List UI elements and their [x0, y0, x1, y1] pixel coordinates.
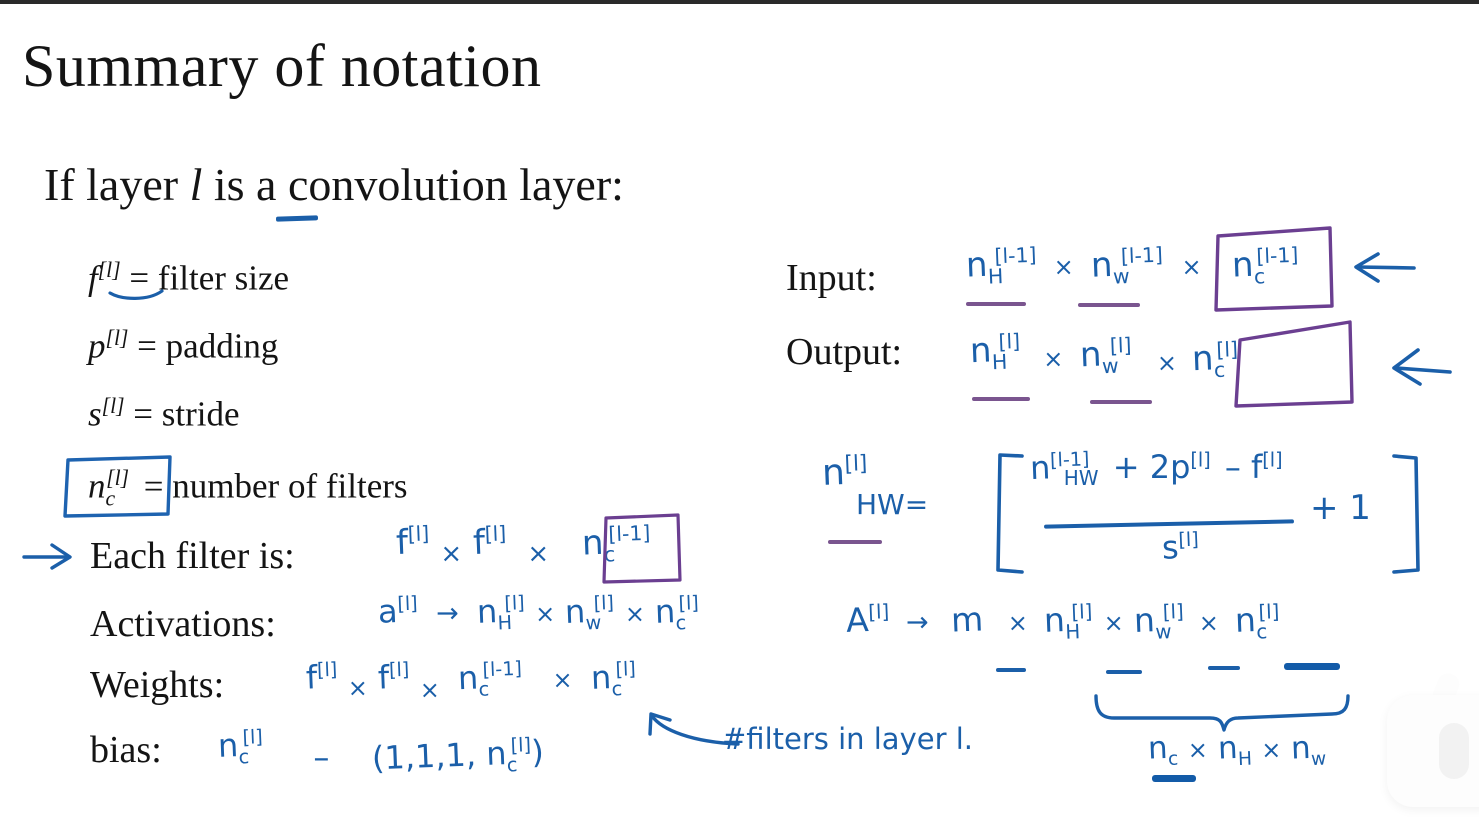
batch-times-3: ×	[1199, 609, 1219, 637]
subtitle-before: If layer	[44, 159, 190, 210]
formula-lhs-sub: HW	[856, 488, 905, 521]
brace-nh: nH	[1217, 729, 1252, 770]
in-nc: nc[l-1]	[1232, 243, 1300, 290]
formula-plus-one: + 1	[1310, 488, 1371, 528]
brace-nh-sub: H	[1237, 749, 1252, 771]
formula-num-n: n[l-1]	[1029, 447, 1090, 487]
app-logo-watermark	[1387, 695, 1479, 807]
brace-times-2: ×	[1261, 736, 1281, 764]
definition-meaning: stride	[162, 395, 240, 434]
input-nh-underline	[966, 302, 1026, 306]
batch-nc-underline	[1284, 663, 1340, 670]
subtitle-var-underline	[276, 215, 318, 221]
definition-equals: =	[129, 259, 149, 298]
definition-equals: =	[144, 467, 164, 506]
definition-filter-size: f[l] = filter size	[88, 258, 289, 299]
batch-arrow: →	[906, 607, 929, 638]
hw-bnc: nc[l]	[217, 725, 264, 769]
hw-bias-tuple-sup: [l]	[510, 734, 531, 758]
in-nw-sup: [l-1]	[1120, 243, 1163, 269]
out-times-2: ×	[1157, 349, 1177, 377]
hw-times-5: ×	[348, 674, 368, 702]
hw-wnc: nc[l]	[590, 657, 637, 701]
hw-arrow-1: →	[436, 598, 459, 629]
slide-canvas: Summary of notation If layer l is a conv…	[0, 0, 1479, 829]
each-filter-handwriting: f[l] × f[l] × nc[l-1]	[396, 522, 651, 566]
hw-f1-sup: [l]	[407, 521, 429, 546]
batch-nc: nc[l]	[1235, 599, 1281, 644]
batch-nh-underline	[1106, 670, 1142, 674]
filters-note: #filters in layer l.	[722, 722, 973, 756]
hw-wf1: f[l]	[305, 657, 338, 696]
hw-nc-prev: nc[l-1]	[581, 521, 651, 568]
batch-brace-note: nc × nH × nw	[1148, 730, 1326, 770]
in-nw: nw[l-1]	[1090, 243, 1164, 290]
hw-f1: f[l]	[395, 521, 430, 563]
formula-floor-bracket-right	[1388, 452, 1428, 578]
definition-equals: =	[137, 327, 157, 366]
hw-wf1-sup: [l]	[317, 658, 338, 682]
out-nc: nc[l]	[1191, 337, 1239, 383]
batch-A: A[l]	[845, 599, 890, 640]
input-arrow-left-icon	[1348, 250, 1418, 290]
definition-padding: p[l] = padding	[88, 326, 278, 367]
hw-nw: nw[l]	[565, 591, 616, 635]
output-arrow-left-icon	[1384, 346, 1454, 392]
output-handwriting: nH[l] × nw[l] × nc[l]	[970, 330, 1238, 374]
batch-A-sup: [l]	[868, 600, 890, 624]
definition-superscript: [l]	[102, 394, 125, 418]
output-nh-underline	[972, 397, 1030, 401]
hw-wnc-prev-sup: [l-1]	[482, 657, 522, 681]
formula-lhs-underline	[828, 540, 882, 544]
hw-bias-tuple: (1,1,1, nc[l])	[371, 733, 544, 782]
hw-f2: f[l]	[472, 521, 507, 563]
batch-m: m	[950, 599, 984, 639]
formula-lhs: n[l]	[822, 452, 868, 493]
definition-superscript: [l]	[106, 326, 129, 350]
row-label-each-filter: Each filter is:	[90, 534, 295, 578]
formula-num-sup: [l-1]	[1050, 447, 1090, 471]
formula-floor-bracket-left	[992, 452, 1028, 578]
batch-times-1: ×	[1008, 609, 1028, 637]
hw-nw-sup: [l]	[594, 591, 615, 615]
out-nh: nH[l]	[969, 329, 1021, 375]
row-label-bias: bias:	[90, 728, 162, 772]
hw-times-7: ×	[553, 666, 573, 694]
bias-handwriting: nc[l] – (1,1,1, nc[l])	[218, 726, 543, 768]
in-times-2: ×	[1182, 253, 1202, 281]
formula-equals: =	[905, 488, 928, 521]
output-nw-underline	[1090, 400, 1152, 404]
hw-times-4: ×	[625, 600, 645, 628]
in-nh: nH[l-1]	[965, 243, 1037, 290]
hw-f2-sup: [l]	[484, 521, 506, 546]
formula-num-rest2: – f	[1225, 448, 1262, 486]
batch-dims-brace	[1092, 692, 1354, 734]
formula-num-rest1: + 2p	[1113, 448, 1191, 486]
hw-wf2: f[l]	[377, 657, 410, 696]
output-nc-box	[1232, 318, 1356, 410]
hw-nh-sup: [l]	[504, 591, 525, 615]
batch-times-2: ×	[1104, 609, 1124, 637]
hw-bnc-sup: [l]	[242, 725, 263, 749]
out-times-1: ×	[1043, 345, 1063, 373]
definition-superscript: [l]	[106, 466, 129, 490]
hw-dash: –	[313, 738, 329, 776]
activations-handwriting: a[l] → nH[l] × nw[l] × nc[l]	[378, 592, 699, 634]
hw-wnc-prev: nc[l-1]	[457, 657, 523, 702]
batch-nw: nw[l]	[1133, 599, 1185, 644]
in-nh-sup: [l-1]	[994, 243, 1037, 269]
out-nw: nw[l]	[1079, 333, 1132, 379]
batch-nc-sup: [l]	[1258, 600, 1280, 624]
definition-subscript: c	[106, 487, 116, 511]
hw-a: a[l]	[377, 591, 418, 631]
hw-nc-act-sup: [l]	[678, 592, 699, 616]
row-label-activations: Activations:	[90, 602, 276, 646]
subtitle-layer-var: l	[190, 159, 203, 210]
in-nc-sup: [l-1]	[1256, 243, 1299, 269]
definition-symbol: s	[88, 395, 102, 434]
out-nw-sup: [l]	[1110, 333, 1132, 358]
formula-num-rest1-sup: [l]	[1190, 448, 1210, 471]
top-edge-strip	[0, 0, 1479, 4]
input-nw-underline	[1078, 303, 1140, 307]
brace-nw-sub: w	[1311, 749, 1327, 771]
definition-equals: =	[133, 395, 153, 434]
hw-nh: nH[l]	[476, 591, 526, 635]
definition-superscript: [l]	[98, 258, 121, 282]
brace-nc-sub: c	[1168, 749, 1179, 770]
formula-num-rest2-sup: [l]	[1262, 448, 1282, 471]
hw-wf2-sup: [l]	[389, 658, 410, 682]
hw-times-1: ×	[440, 539, 462, 569]
formula-den-sup: [l]	[1178, 528, 1199, 552]
definition-symbol: p	[88, 327, 106, 366]
brace-nw: nw	[1290, 729, 1326, 770]
weights-handwriting: f[l] × f[l] × nc[l-1] × nc[l]	[306, 658, 636, 700]
formula-den-s: s[l]	[1161, 527, 1199, 566]
in-times-1: ×	[1054, 253, 1074, 281]
formula-lhs-sup: [l]	[844, 451, 868, 477]
batch-nh-sup: [l]	[1071, 600, 1093, 624]
definition-meaning: padding	[166, 327, 279, 366]
hw-nc-prev-sup: [l-1]	[608, 521, 651, 547]
brace-times-1: ×	[1188, 736, 1208, 764]
arrow-right-icon	[22, 540, 78, 574]
definition-number-of-filters: nc[l] = number of filters	[88, 466, 408, 512]
batch-nw-sup: [l]	[1163, 600, 1185, 624]
hw-times-2: ×	[527, 539, 549, 569]
subtitle-after: is a convolution layer:	[202, 159, 624, 210]
hw-wnc-sup: [l]	[615, 657, 636, 681]
out-nc-sup: [l]	[1216, 337, 1238, 362]
definition-symbol: n	[88, 467, 106, 506]
input-handwriting: nH[l-1] × nw[l-1] × nc[l-1]	[966, 244, 1299, 288]
definition-meaning: number of filters	[172, 467, 407, 506]
row-label-weights: Weights:	[90, 663, 224, 707]
formula-lhs-sub-eq: HW=	[856, 488, 928, 521]
batch-m-underline	[996, 668, 1026, 672]
hw-times-3: ×	[535, 600, 555, 628]
formula-denominator: s[l]	[1162, 528, 1199, 566]
subtitle: If layer l is a convolution layer:	[44, 158, 624, 211]
input-label: Input:	[786, 256, 877, 300]
brace-nc: nc	[1147, 729, 1178, 770]
brace-nc-underline	[1152, 775, 1196, 782]
output-label: Output:	[786, 330, 902, 374]
hw-times-6: ×	[420, 676, 440, 704]
batch-nw-underline	[1208, 666, 1240, 670]
batch-handwriting: A[l] → m × nH[l] × nw[l] × nc[l]	[846, 600, 1280, 644]
definition-meaning: filter size	[158, 259, 289, 298]
batch-nh: nH[l]	[1044, 599, 1094, 644]
definition-symbol: f	[88, 259, 98, 298]
out-nh-sup: [l]	[998, 329, 1020, 354]
formula-numerator: n[l-1]HW + 2p[l] – f[l]	[1030, 448, 1283, 490]
hw-nc-act: nc[l]	[654, 591, 700, 635]
page-title: Summary of notation	[22, 32, 541, 101]
definition-stride: s[l] = stride	[88, 394, 240, 435]
hw-a-sup: [l]	[397, 592, 418, 616]
